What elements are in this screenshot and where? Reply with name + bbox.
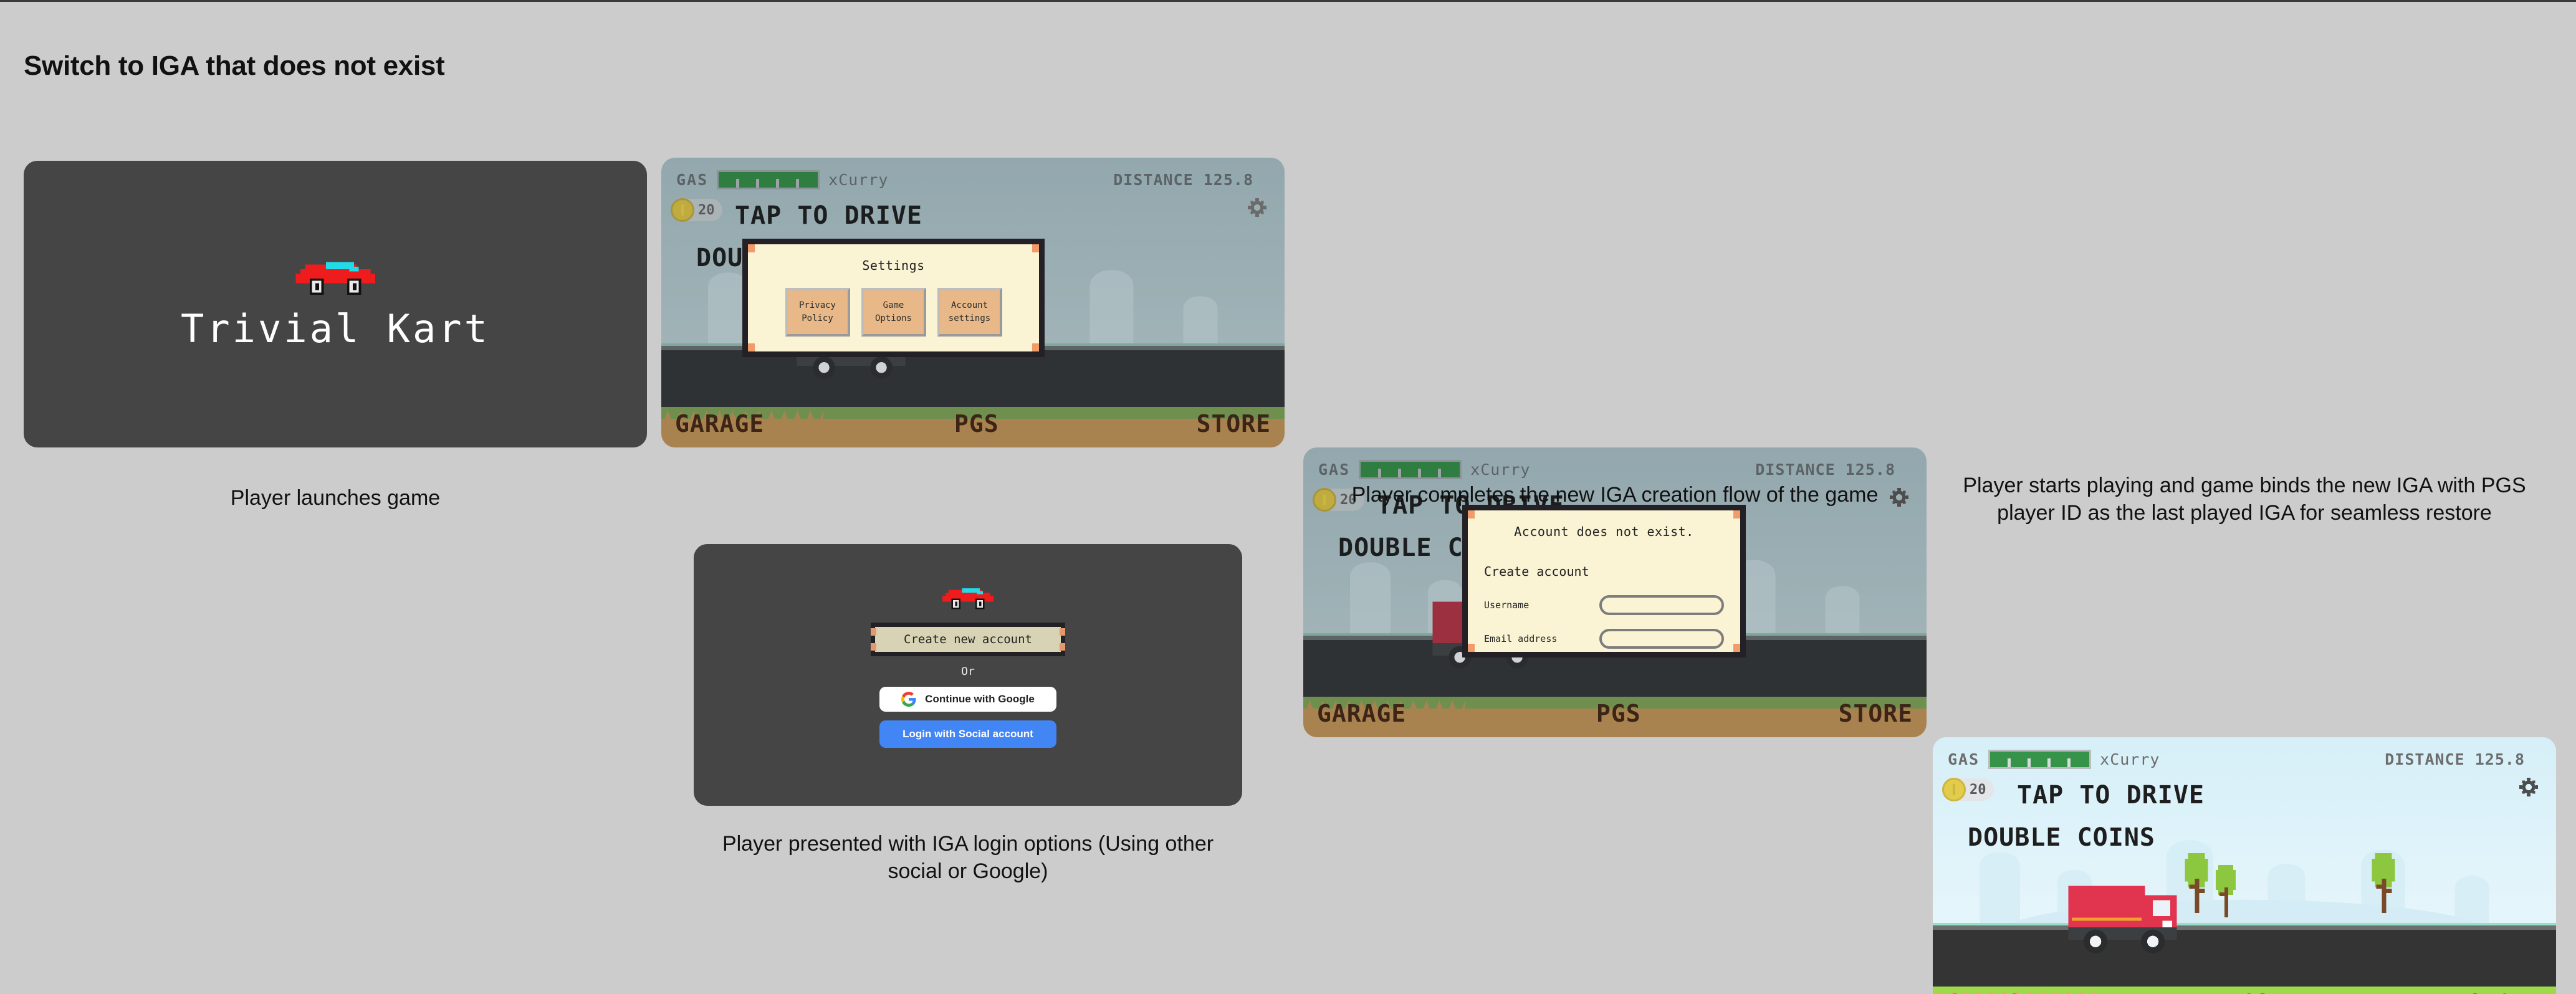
coin-counter: 20	[673, 199, 722, 221]
account-not-exist-message: Account does not exist.	[1484, 524, 1724, 539]
tap-to-drive-line1: TAP TO DRIVE	[2017, 781, 2205, 810]
player-username: xCurry	[2100, 750, 2160, 768]
nav-store[interactable]: STORE	[2468, 990, 2542, 994]
panel-gameplay: GAS xCurry DISTANCE 125.8 20 TAP TO DRIV…	[1933, 737, 2556, 994]
gas-meter	[1359, 460, 1462, 479]
dialog-corner-accent	[748, 244, 755, 252]
username-field-row: Username	[1484, 595, 1724, 615]
account-creation-dialog: Account does not exist. Create account U…	[1462, 505, 1746, 657]
settings-dialog-title: Settings	[748, 258, 1039, 273]
caption-panel-splash: Player launches game	[24, 485, 647, 512]
pixel-race-car-icon	[289, 257, 382, 296]
gear-icon[interactable]	[1246, 196, 1268, 219]
nav-pgs[interactable]: PGS	[1596, 700, 1641, 727]
create-new-account-button[interactable]: Create new account	[871, 623, 1065, 656]
nav-garage[interactable]: GARAGE	[675, 410, 764, 437]
panel-splash-screen: Trivial Kart	[24, 161, 647, 447]
caption-panel-gameplay: Player starts playing and game binds the…	[1933, 472, 2556, 527]
email-input[interactable]	[1599, 629, 1724, 649]
distance-readout: DISTANCE 125.8	[1113, 171, 1253, 189]
game-logo-text: Trivial Kart	[181, 306, 490, 351]
dialog-corner-accent	[1032, 244, 1039, 252]
coin-icon	[1942, 778, 1966, 801]
or-divider-label: Or	[961, 665, 975, 678]
create-new-account-label: Create new account	[904, 633, 1032, 646]
continue-with-google-label: Continue with Google	[925, 693, 1035, 705]
coin-counter: 20	[1944, 778, 1994, 801]
coin-icon	[671, 198, 694, 222]
page-title: Switch to IGA that does not exist	[24, 50, 444, 82]
email-field-row: Email address	[1484, 629, 1724, 649]
nav-garage[interactable]: GARAGE	[1946, 990, 2036, 994]
player-username: xCurry	[1470, 461, 1530, 479]
coin-count: 20	[1970, 782, 1986, 798]
gas-label: GAS	[1948, 750, 1980, 768]
dialog-corner-accent	[1060, 628, 1065, 636]
panel-login-options: Create new account Or Continue with Goog…	[694, 544, 1242, 806]
dialog-corner-accent	[871, 628, 876, 636]
gas-meter	[1988, 750, 2091, 769]
privacy-policy-button[interactable]: Privacy Policy	[785, 288, 850, 337]
create-account-heading: Create account	[1484, 564, 1724, 579]
dialog-corner-accent	[871, 643, 876, 651]
account-settings-button[interactable]: Account settings	[937, 288, 1002, 337]
dialog-corner-accent	[1468, 644, 1475, 652]
tap-to-drive-line1: TAP TO DRIVE	[735, 201, 922, 230]
nav-pgs[interactable]: PGS	[954, 410, 999, 437]
gas-label: GAS	[676, 171, 708, 189]
panel-settings-dialog: GAS xCurry DISTANCE 125.8 20 TAP TO DRIV…	[661, 158, 1285, 447]
dialog-corner-accent	[748, 343, 755, 351]
dialog-corner-accent	[1060, 643, 1065, 651]
nav-store[interactable]: STORE	[1839, 700, 1913, 727]
dialog-corner-accent	[1468, 510, 1475, 519]
tree	[2213, 865, 2238, 920]
distance-readout: DISTANCE 125.8	[1755, 461, 1895, 479]
road	[1933, 925, 2556, 987]
dialog-corner-accent	[1733, 644, 1740, 652]
nav-pgs[interactable]: PGS	[2226, 990, 2271, 994]
pixel-race-car-icon	[938, 585, 998, 614]
google-g-icon	[901, 692, 916, 707]
game-options-button[interactable]: Game Options	[861, 288, 926, 337]
continue-with-google-button[interactable]: Continue with Google	[879, 687, 1056, 712]
dialog-corner-accent	[1032, 343, 1039, 351]
delivery-truck	[2064, 882, 2207, 959]
email-label: Email address	[1484, 633, 1557, 644]
username-label: Username	[1484, 600, 1529, 611]
tree	[2369, 853, 2398, 916]
hud-top-row: GAS xCurry DISTANCE 125.8	[676, 170, 1270, 189]
caption-panel-login: Player presented with IGA login options …	[694, 831, 1242, 885]
hud-top-row: GAS xCurry DISTANCE 125.8	[1318, 460, 1912, 479]
nav-store[interactable]: STORE	[1197, 410, 1271, 437]
login-with-social-button[interactable]: Login with Social account	[879, 720, 1056, 748]
nav-garage[interactable]: GARAGE	[1317, 700, 1406, 727]
distance-readout: DISTANCE 125.8	[2385, 750, 2525, 768]
settings-dialog: Settings Privacy Policy Game Options Acc…	[742, 239, 1045, 357]
tap-to-drive-line2: DOUBLE COINS	[1968, 823, 2155, 852]
dialog-corner-accent	[1733, 510, 1740, 519]
username-input[interactable]	[1599, 595, 1724, 615]
gear-icon[interactable]	[2517, 776, 2540, 798]
hud-top-row: GAS xCurry DISTANCE 125.8	[1948, 750, 2541, 769]
player-username: xCurry	[828, 171, 888, 189]
login-with-social-label: Login with Social account	[903, 728, 1033, 740]
gas-meter	[717, 170, 820, 189]
gas-label: GAS	[1318, 461, 1350, 479]
coin-count: 20	[698, 203, 715, 218]
